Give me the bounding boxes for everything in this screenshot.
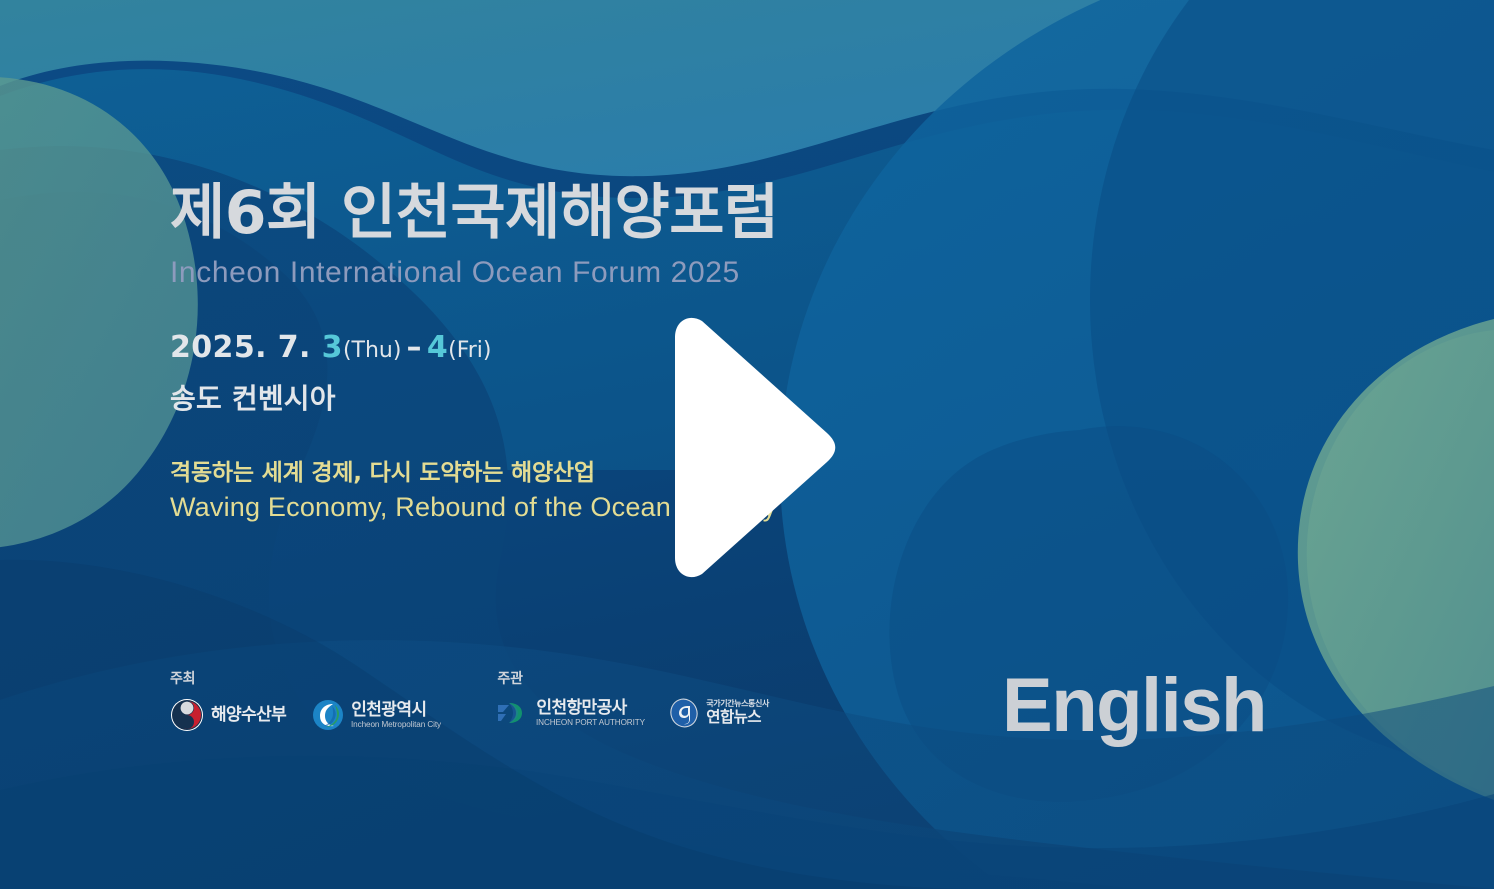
logo-name-ko: 해양수산부 [211, 707, 286, 724]
korea-government-taegeuk-icon [170, 698, 204, 732]
sponsor-logo-row: 인천항만공사 INCHEON PORT AUTHORITY [497, 698, 769, 728]
page-title: 제6회 인천국제해양포럼 [170, 182, 1070, 244]
event-theme-ko: 격동하는 세계 경제, 다시 도약하는 해양산업 [170, 457, 1070, 490]
forum-promo-banner: 제6회 인천국제해양포럼 Incheon International Ocean… [0, 0, 1494, 889]
page-subtitle: Incheon International Ocean Forum 2025 [170, 256, 1070, 290]
event-date-prefix: 2025. 7. [170, 330, 322, 365]
logo-yonhap-news[interactable]: 국가기간뉴스통신사 연합뉴스 [669, 698, 769, 728]
logo-incheon-port-authority[interactable]: 인천항만공사 INCHEON PORT AUTHORITY [497, 700, 643, 727]
logo-incheon-metropolitan-city[interactable]: 인천광역시 Incheon Metropolitan City [312, 699, 439, 731]
incheon-port-authority-icon [497, 700, 529, 726]
event-theme: 격동하는 세계 경제, 다시 도약하는 해양산업 Waving Economy,… [170, 457, 1070, 524]
event-date-weekday-start: (Thu) [343, 338, 402, 363]
logo-name-en: Incheon Metropolitan City [351, 721, 441, 729]
event-date-day-start: 3 [322, 330, 343, 365]
sponsor-role-label: 주최 [170, 668, 439, 688]
logo-text: 해양수산부 [211, 707, 286, 724]
logo-name-ko: 인천광역시 [351, 702, 439, 719]
sponsor-logo-row: 해양수산부 인천광역시 Incheon Metrop [170, 698, 439, 732]
event-date-dash: – [401, 330, 426, 365]
event-date: 2025. 7. 3(Thu)–4(Fri) [170, 330, 1070, 365]
event-date-day-end: 4 [427, 330, 448, 365]
event-date-weekday-end: (Fri) [448, 338, 491, 363]
sponsor-group-host: 주최 해양수산부 [170, 668, 439, 732]
play-icon [663, 315, 838, 580]
play-button[interactable] [663, 315, 838, 580]
logo-text: 인천광역시 Incheon Metropolitan City [351, 702, 439, 729]
hero-text-block: 제6회 인천국제해양포럼 Incheon International Ocean… [170, 182, 1070, 524]
sponsor-role-label: 주관 [497, 668, 769, 688]
event-venue: 송도 컨벤시아 [170, 377, 1070, 417]
logo-name-en: INCHEON PORT AUTHORITY [536, 719, 645, 727]
yonhap-news-icon [669, 698, 699, 728]
logo-text: 인천항만공사 INCHEON PORT AUTHORITY [536, 700, 643, 727]
sponsor-group-organizer: 주관 인천항만공사 INCHEON PORT AUTHORITY [497, 668, 769, 728]
logo-ministry-of-oceans-and-fisheries[interactable]: 해양수산부 [170, 698, 286, 732]
incheon-metropolitan-city-icon [312, 699, 344, 731]
event-theme-en: Waving Economy, Rebound of the Ocean Ind… [170, 491, 1070, 525]
sponsor-section: 주최 해양수산부 [170, 668, 769, 732]
logo-text: 국가기간뉴스통신사 연합뉴스 [706, 700, 769, 726]
language-toggle-english[interactable]: English [1002, 662, 1266, 749]
logo-name-ko: 인천항만공사 [536, 700, 643, 717]
logo-name-ko: 연합뉴스 [706, 710, 769, 726]
logo-tagline-ko: 국가기간뉴스통신사 [706, 700, 769, 708]
